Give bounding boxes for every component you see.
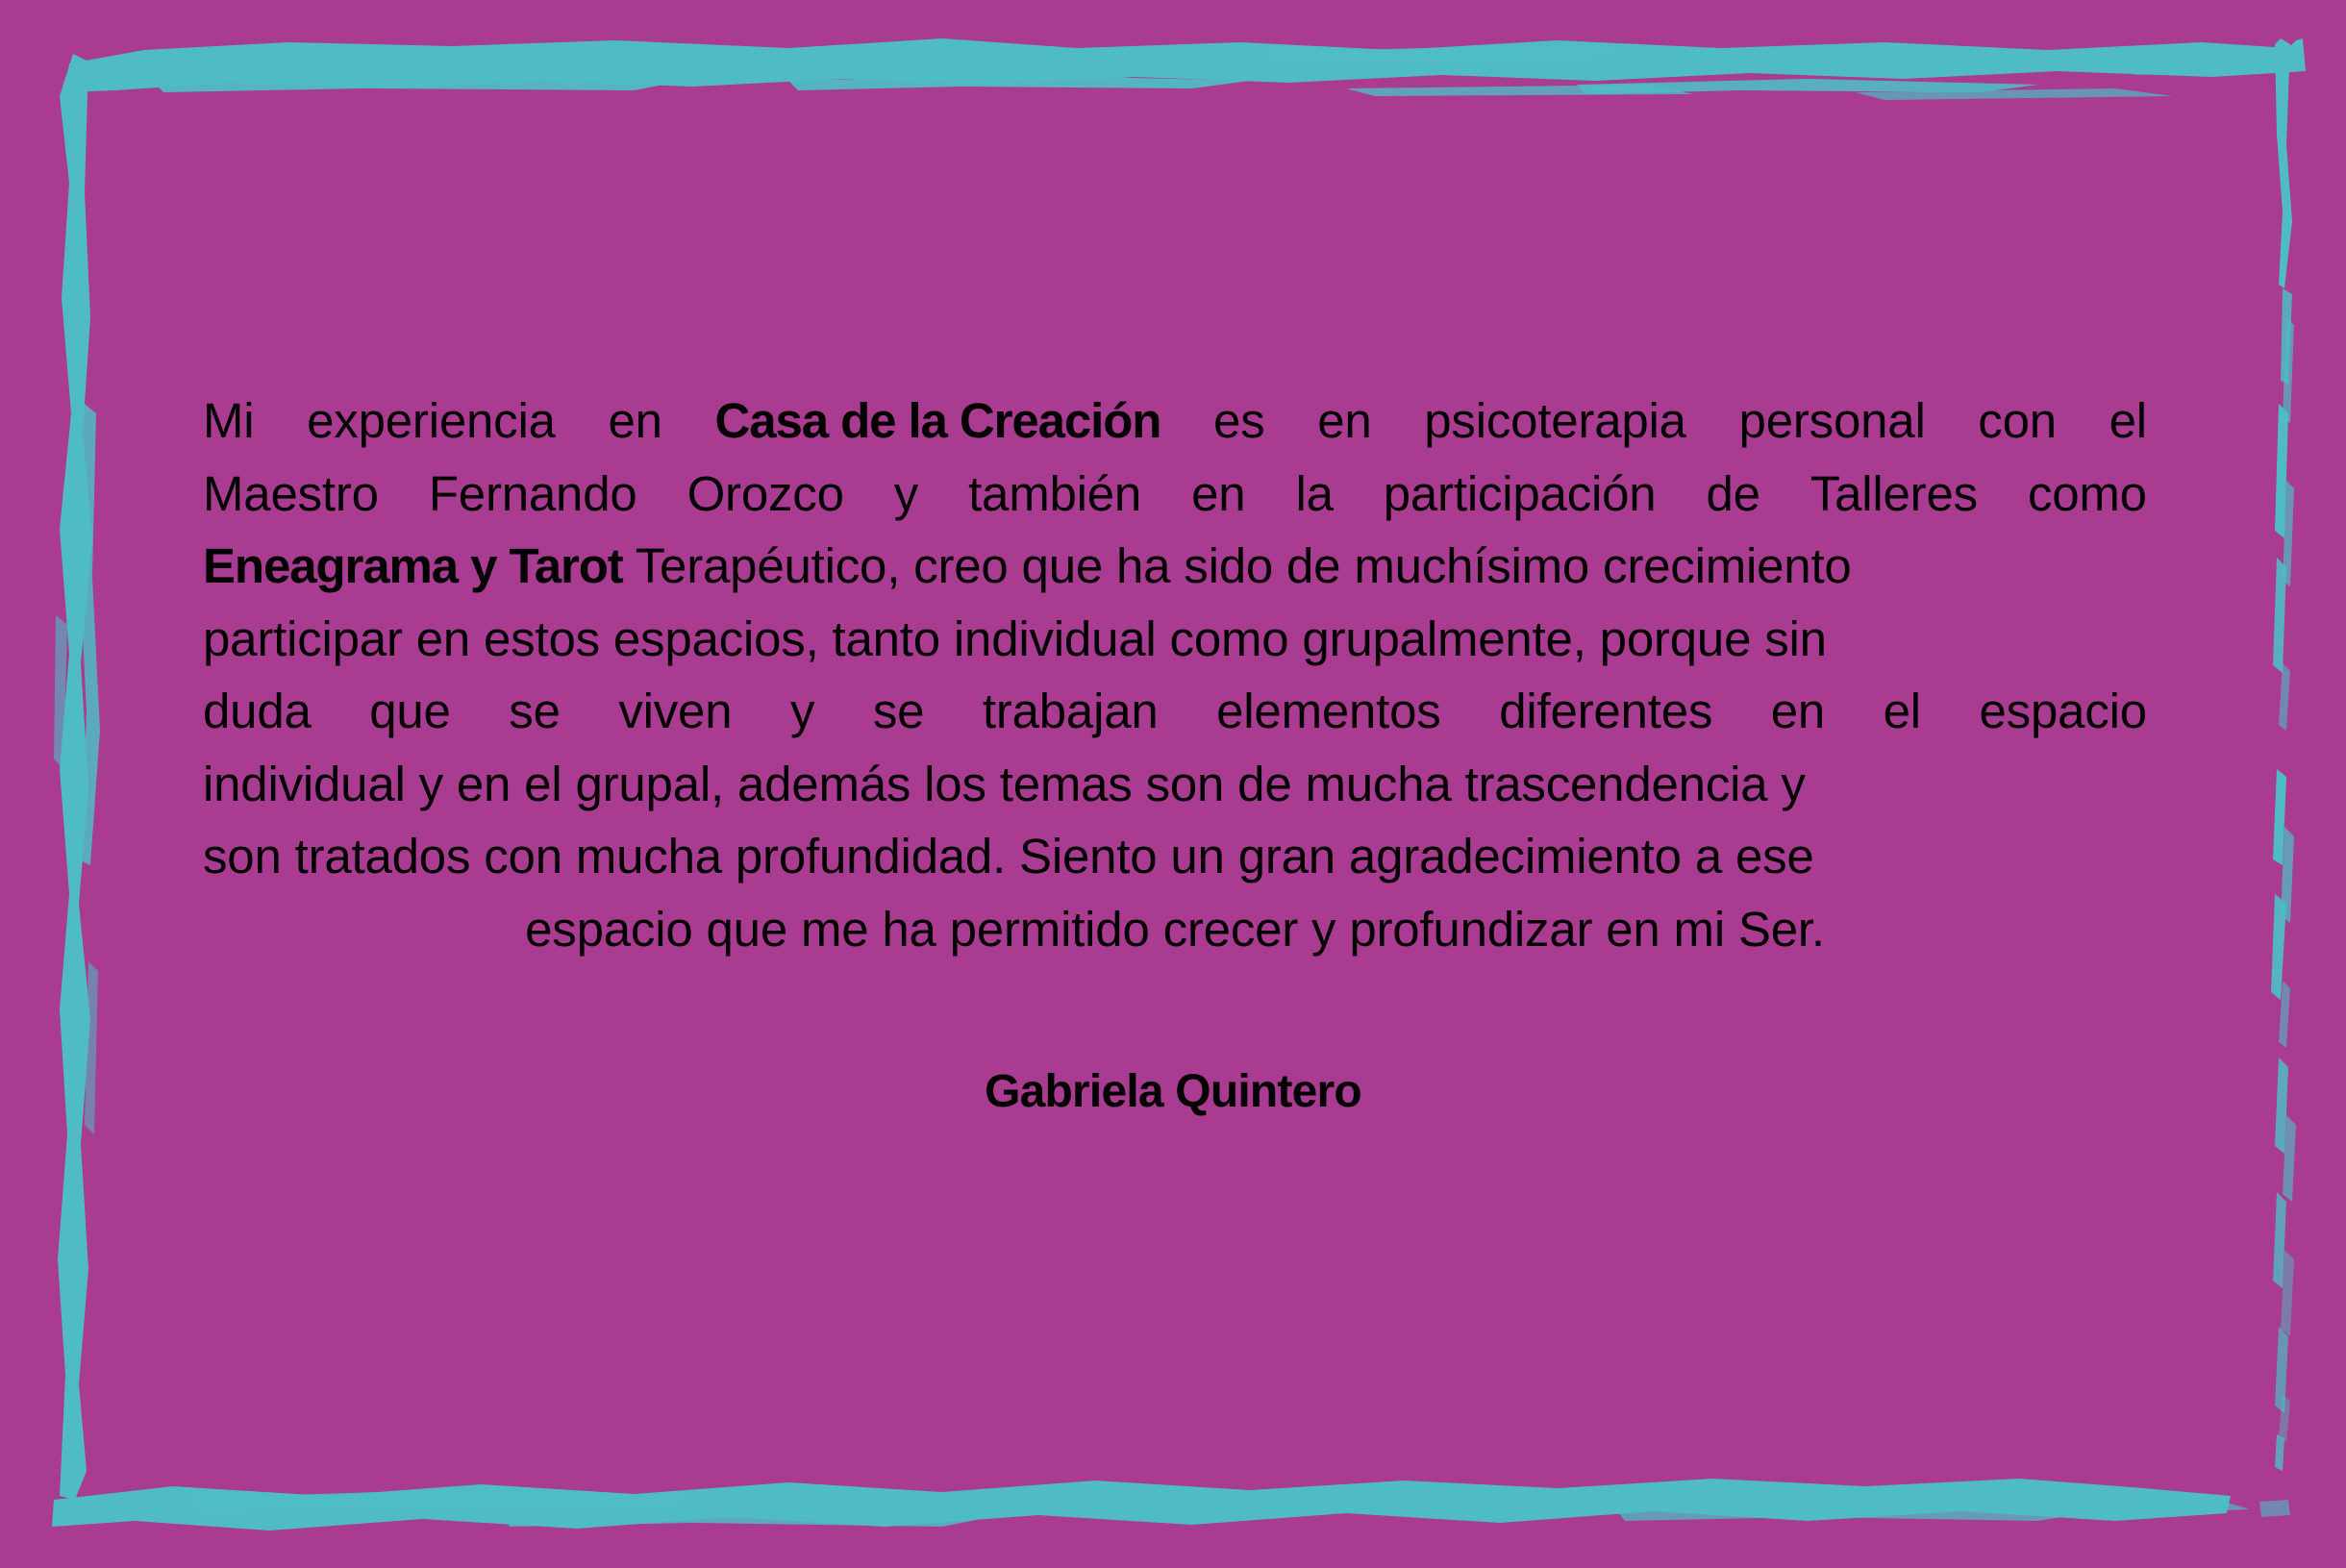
quote-word: Maestro bbox=[203, 458, 379, 531]
testimonial-card: MiexperienciaenCasa de la Creaciónesenps… bbox=[0, 0, 2346, 1568]
quote-word: duda bbox=[203, 675, 312, 748]
quote-word: Fernando bbox=[429, 458, 637, 531]
quote-word: Talleres bbox=[1810, 458, 1978, 531]
quote-word: también bbox=[968, 458, 1141, 531]
quote-line-6: individual y en el grupal, además los te… bbox=[203, 748, 2147, 821]
quote-line-5: dudaquesevivenysetrabajanelementosdifere… bbox=[203, 675, 2147, 748]
quote-line-4: participar en estos espacios, tanto indi… bbox=[203, 603, 2147, 676]
quote-word: psicoterapia bbox=[1424, 385, 1686, 458]
quote-word: se bbox=[509, 675, 560, 748]
quote-line-3: Eneagrama y Tarot Terapéutico, creo que … bbox=[203, 530, 2147, 603]
quote-word: espacio bbox=[1979, 675, 2146, 748]
quote-word: se bbox=[873, 675, 924, 748]
quote-word: con bbox=[1978, 385, 2057, 458]
quote-word: elementos bbox=[1216, 675, 1441, 748]
quote-word: y bbox=[894, 458, 918, 531]
quote-word: personal bbox=[1739, 385, 1926, 458]
quote-word: que bbox=[369, 675, 451, 748]
quote-word: Orozco bbox=[687, 458, 844, 531]
quote-word: en bbox=[1317, 385, 1371, 458]
quote-word: y bbox=[790, 675, 814, 748]
quote-line-2: MaestroFernandoOrozcoytambiénenlapartici… bbox=[203, 458, 2147, 531]
quote-line-7: son tratados con mucha profundidad. Sien… bbox=[203, 820, 2147, 893]
quote-word: de bbox=[1706, 458, 1759, 531]
testimonial-quote-text: MiexperienciaenCasa de la Creaciónesenps… bbox=[203, 385, 2147, 965]
quote-word: la bbox=[1295, 458, 1333, 531]
quote-line-8: espacio que me ha permitido crecer y pro… bbox=[203, 893, 2147, 966]
quote-word: viven bbox=[618, 675, 732, 748]
quote-word: diferentes bbox=[1499, 675, 1712, 748]
quote-word: en bbox=[1191, 458, 1245, 531]
quote-word: trabajan bbox=[983, 675, 1159, 748]
quote-word: participación bbox=[1384, 458, 1657, 531]
quote-line-1: MiexperienciaenCasa de la Creaciónesenps… bbox=[203, 385, 2147, 458]
quote-word: es bbox=[1213, 385, 1264, 458]
quote-word: el bbox=[2109, 385, 2147, 458]
quote-word: el bbox=[1884, 675, 1921, 748]
author-name: Gabriela Quintero bbox=[0, 1065, 2346, 1118]
quote-line-3-rest: Terapéutico, creo que ha sido de muchísi… bbox=[623, 538, 1852, 593]
quote-word: en bbox=[1771, 675, 1825, 748]
quote-word: Mi bbox=[203, 385, 254, 458]
quote-word: experiencia bbox=[307, 385, 556, 458]
quote-word: en bbox=[608, 385, 661, 458]
quote-word: como bbox=[2028, 458, 2147, 531]
workshop-name: Eneagrama y Tarot bbox=[203, 538, 623, 593]
organization-name: Casa de la Creación bbox=[715, 385, 1161, 458]
